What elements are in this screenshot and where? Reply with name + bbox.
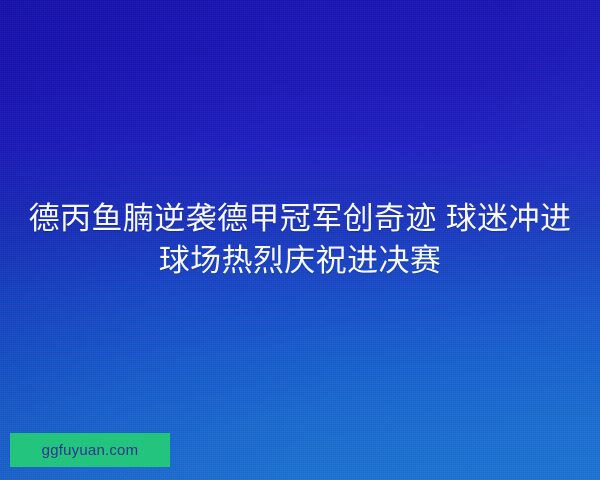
headline-line-2: 球场热烈庆祝进决赛	[16, 240, 584, 282]
headline-line-1: 德丙鱼腩逆袭德甲冠军创奇迹 球迷冲进	[16, 198, 584, 240]
headline-card: 德丙鱼腩逆袭德甲冠军创奇迹 球迷冲进 球场热烈庆祝进决赛 ggfuyuan.co…	[0, 0, 600, 480]
headline-block: 德丙鱼腩逆袭德甲冠军创奇迹 球迷冲进 球场热烈庆祝进决赛	[0, 198, 600, 282]
watermark-badge: ggfuyuan.com	[10, 433, 170, 467]
watermark-label: ggfuyuan.com	[42, 443, 139, 458]
